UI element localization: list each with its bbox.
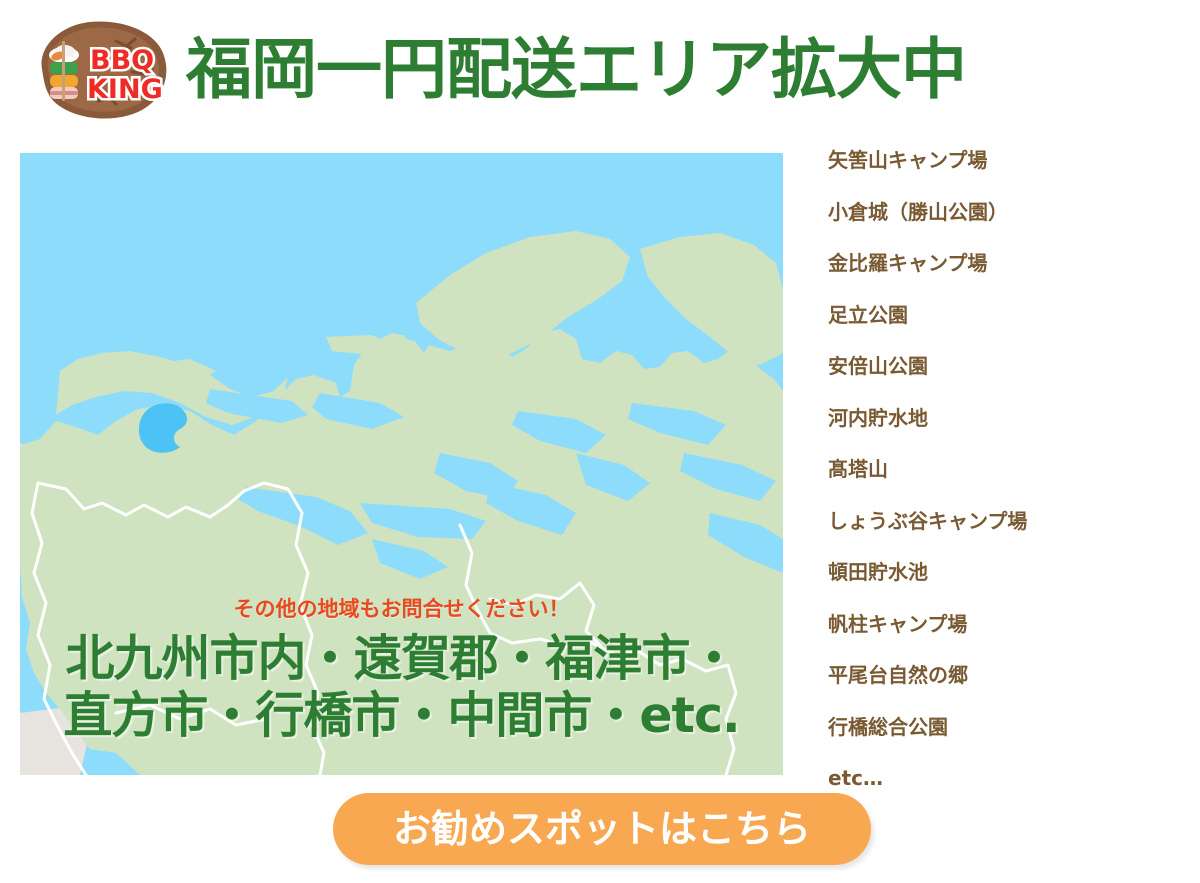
- steak-logo-icon: BBQ KING: [32, 17, 172, 123]
- list-item: 金比羅キャンプ場: [828, 253, 1168, 273]
- list-item: 矢筈山キャンプ場: [828, 150, 1168, 170]
- list-item: 帆柱キャンプ場: [828, 614, 1168, 634]
- map-area-line-2: 直方市・行橋市・中間市・etc.: [20, 688, 783, 745]
- list-item: しょうぶ谷キャンプ場: [828, 511, 1168, 531]
- list-item: 小倉城（勝山公園）: [828, 202, 1168, 222]
- banner-header: BBQ KING 福岡一円配送エリア拡大中: [0, 0, 1200, 140]
- delivery-area-map: その他の地域もお問合せください！ 北九州市内・遠賀郡・福津市・ 直方市・行橋市・…: [20, 153, 783, 775]
- skewer-icon: [49, 41, 79, 101]
- map-contact-note: その他の地域もお問合せください！: [20, 593, 783, 623]
- list-item: 河内貯水地: [828, 408, 1168, 428]
- map-area-line-1: 北九州市内・遠賀郡・福津市・: [20, 631, 783, 688]
- list-item: 安倍山公園: [828, 356, 1168, 376]
- list-item-etc: etc…: [828, 768, 1168, 788]
- list-item: 平尾台自然の郷: [828, 665, 1168, 685]
- map-area-names: 北九州市内・遠賀郡・福津市・ 直方市・行橋市・中間市・etc.: [20, 631, 783, 745]
- list-item: 行橋総合公園: [828, 717, 1168, 737]
- list-item: 足立公園: [828, 305, 1168, 325]
- promo-banner: BBQ KING 福岡一円配送エリア拡大中: [0, 0, 1200, 883]
- recommended-spot-list: 矢筈山キャンプ場 小倉城（勝山公園） 金比羅キャンプ場 足立公園 安倍山公園 河…: [828, 150, 1168, 820]
- recommended-spots-button[interactable]: お勧めスポットはこちら: [333, 793, 871, 865]
- page-title: 福岡一円配送エリア拡大中: [186, 37, 966, 103]
- logo-text-king: KING: [87, 74, 163, 105]
- bbq-king-logo: BBQ KING: [32, 17, 172, 123]
- list-item: 頓田貯水池: [828, 562, 1168, 582]
- logo-text-bbq: BBQ: [90, 45, 154, 76]
- list-item: 髙塔山: [828, 459, 1168, 479]
